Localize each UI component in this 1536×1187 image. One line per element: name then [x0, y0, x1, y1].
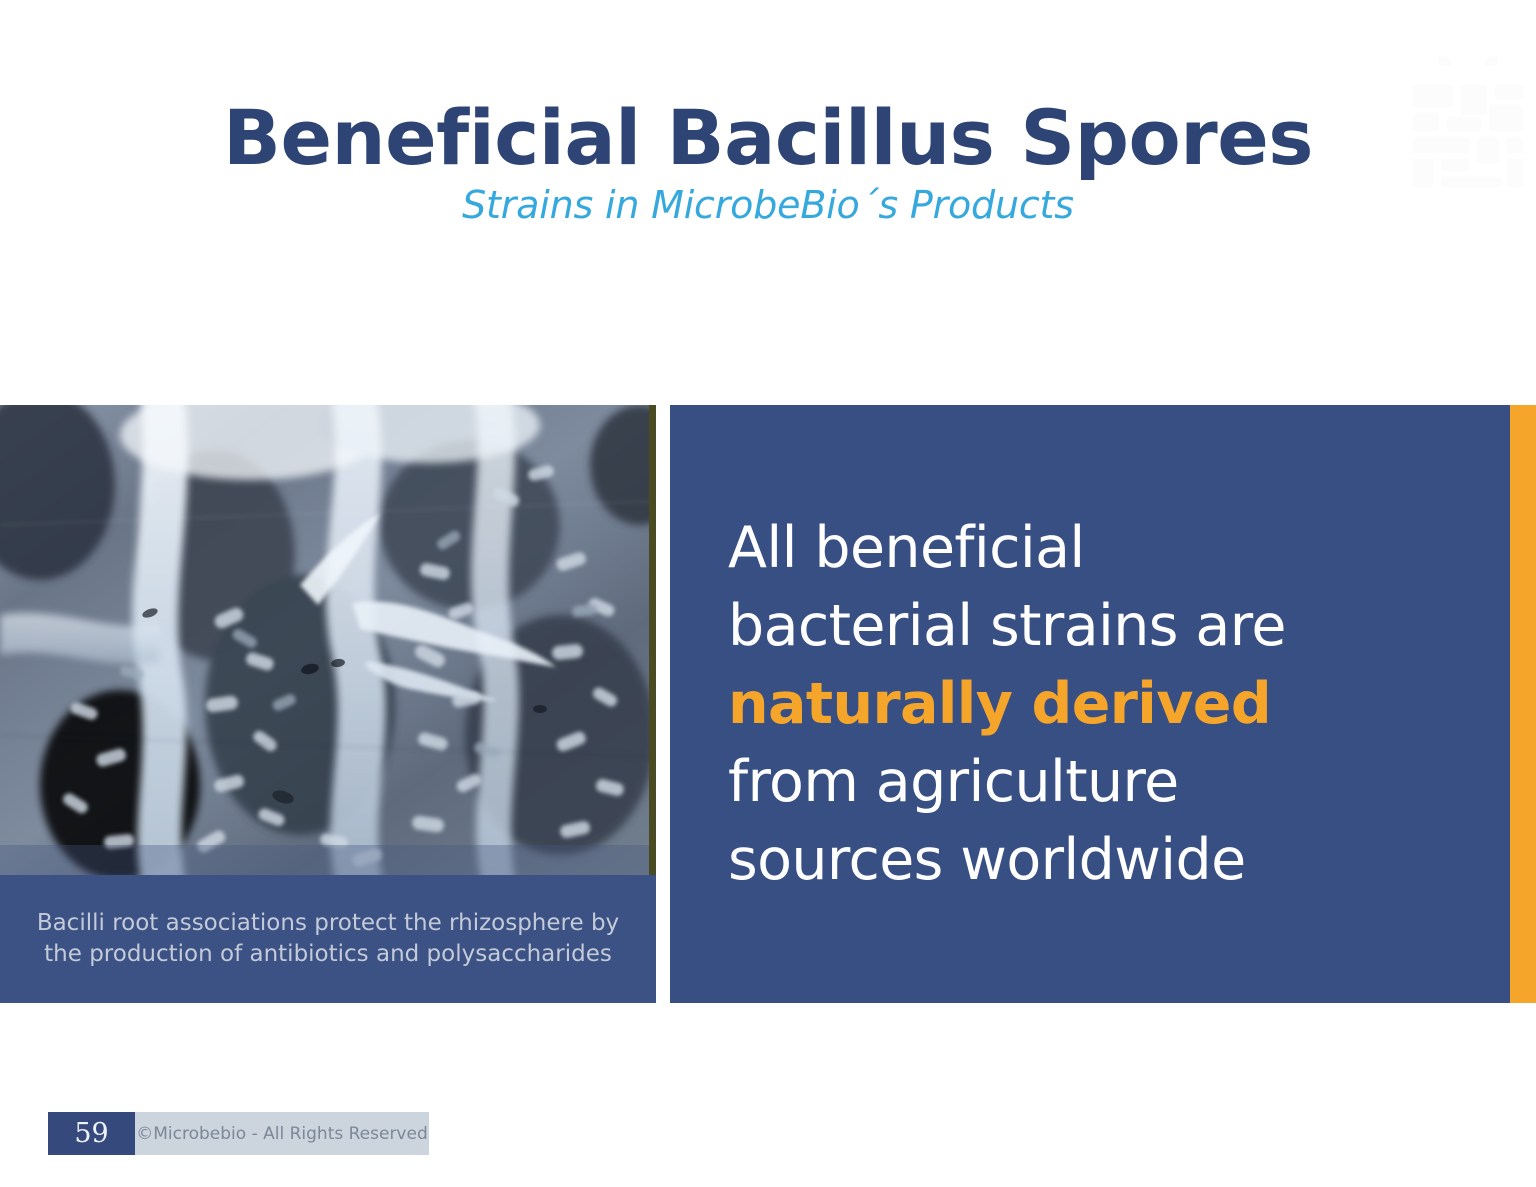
statement-line-1: All beneficial [728, 515, 1085, 581]
page-number-badge: 59 [48, 1112, 135, 1155]
photo-right-border [649, 405, 656, 875]
slide-canvas: Beneficial Bacillus Spores Strains in Mi… [0, 0, 1536, 1187]
photo-panel: Bacilli root associations protect the rh… [0, 405, 656, 1003]
statement-panel: All beneficial bacterial strains are nat… [670, 405, 1510, 1003]
photo-caption-text: Bacilli root associations protect the rh… [0, 908, 656, 971]
statement-highlight: naturally derived [728, 671, 1271, 737]
title-block: Beneficial Bacillus Spores Strains in Mi… [0, 98, 1536, 227]
copyright-text: ©Microbebio - All Rights Reserved [135, 1112, 429, 1155]
photo-caption-band: Bacilli root associations protect the rh… [0, 875, 656, 1003]
slide-footer: 59 ©Microbebio - All Rights Reserved [48, 1112, 429, 1155]
statement-line-2: bacterial strains are [728, 593, 1286, 659]
accent-stripe [1510, 405, 1536, 1003]
statement-line-4: sources worldwide [728, 827, 1246, 893]
statement-line-3: from agriculture [728, 749, 1179, 815]
page-title: Beneficial Bacillus Spores [0, 98, 1536, 177]
page-subtitle: Strains in MicrobeBio´s Products [0, 183, 1536, 227]
sem-micrograph-image [0, 405, 656, 875]
statement-text: All beneficial bacterial strains are nat… [670, 509, 1510, 899]
